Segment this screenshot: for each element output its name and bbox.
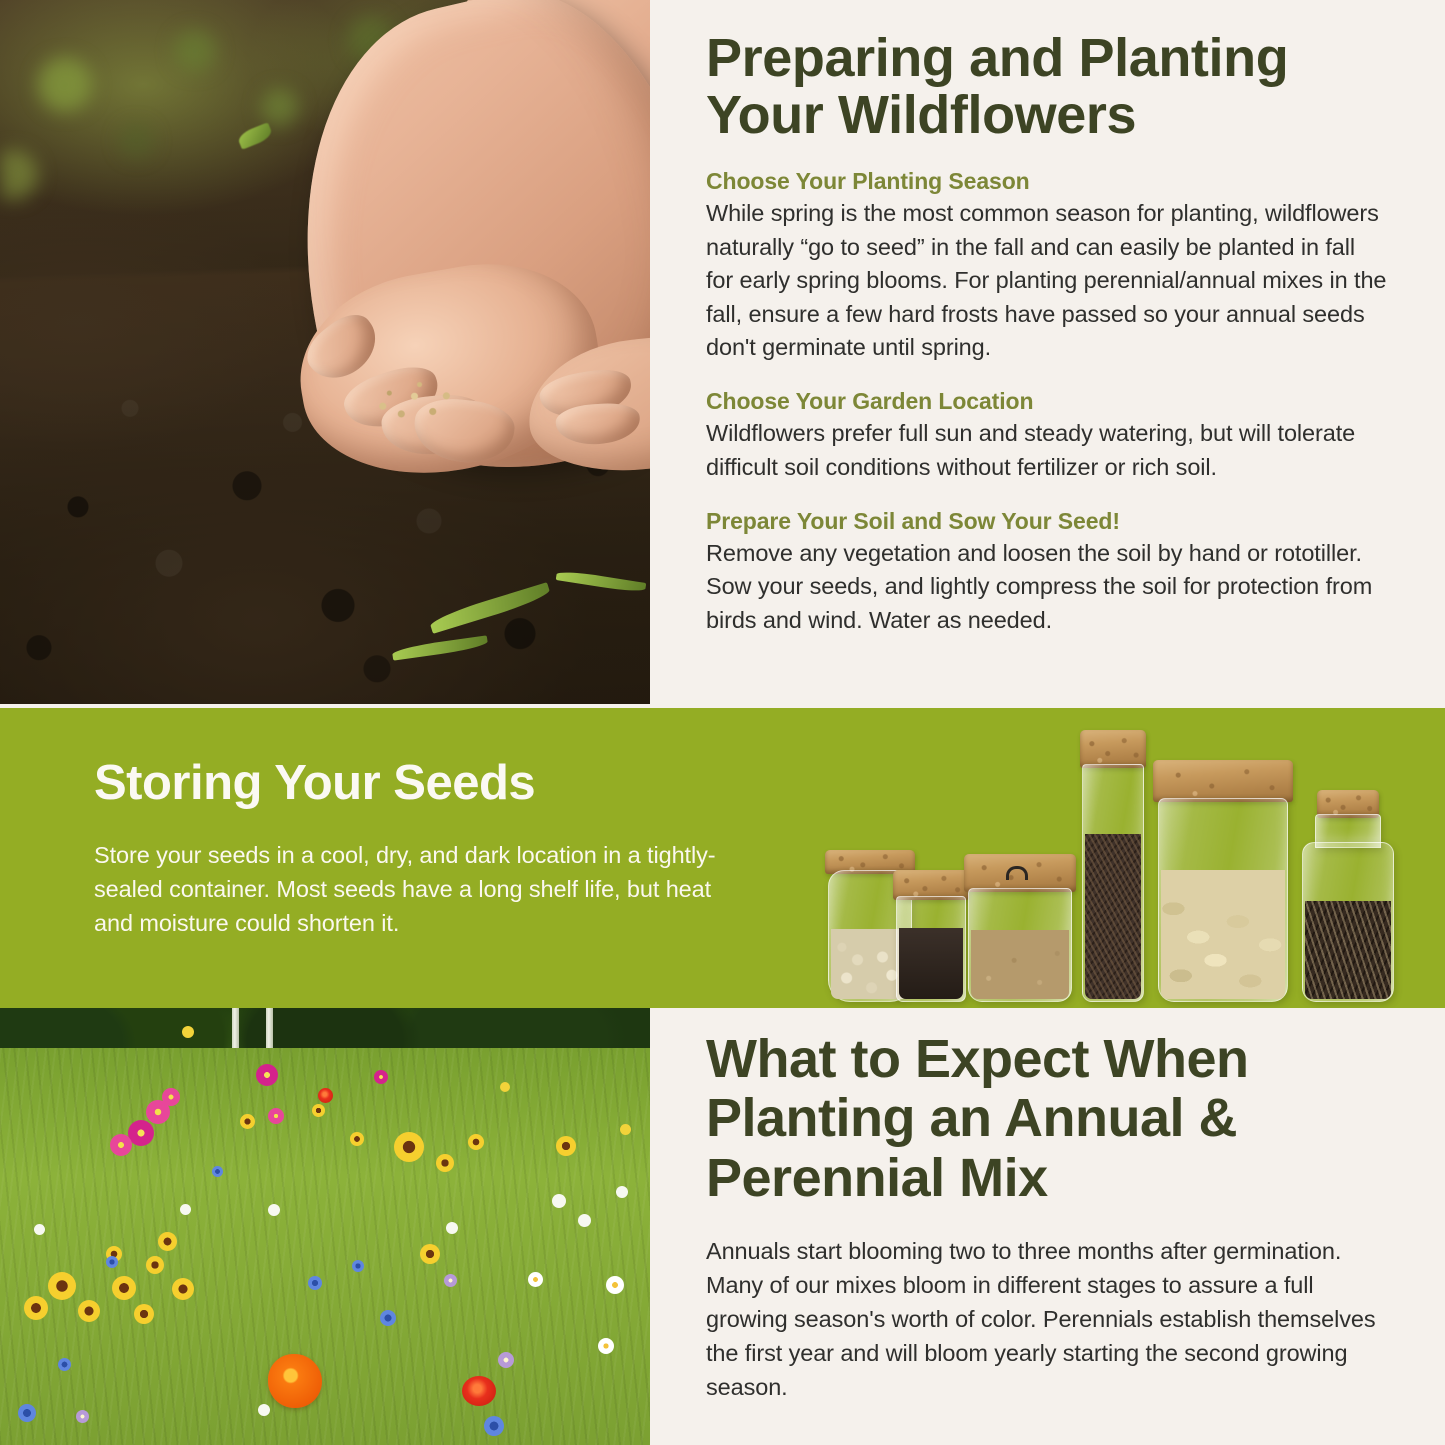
flower-coreopsis-yellow	[78, 1300, 100, 1322]
paragraph-garden-location: Wildflowers prefer full sun and steady w…	[706, 417, 1387, 484]
storing-text-block: Storing Your Seeds Store your seeds in a…	[94, 758, 734, 941]
flower-coreopsis-yellow	[172, 1278, 194, 1300]
flower-lavender	[444, 1274, 457, 1287]
flower-cornflower-blue	[106, 1256, 118, 1268]
glass-body	[1302, 842, 1394, 1002]
flower-cosmos-magenta	[128, 1120, 154, 1146]
flower-yellow-small	[500, 1082, 510, 1092]
glass-body	[896, 896, 966, 1002]
expect-paragraph: Annuals start blooming two to three mont…	[706, 1234, 1387, 1404]
flower-coreopsis-yellow	[468, 1134, 484, 1150]
seed-fill-sunflower	[1305, 901, 1391, 999]
jar-pumpkin-seeds	[1158, 760, 1288, 1002]
jar-sunflower-seeds	[1302, 790, 1394, 1002]
storing-title: Storing Your Seeds	[94, 758, 734, 809]
flower-lavender	[498, 1352, 514, 1368]
seed-fill-dark	[899, 928, 963, 999]
flower-coreopsis-yellow	[312, 1104, 325, 1117]
flower-coreopsis-yellow	[556, 1136, 576, 1156]
page-title: Preparing and Planting Your Wildflowers	[706, 30, 1387, 144]
flower-poppy-red	[462, 1376, 496, 1406]
flower-coreopsis-yellow	[48, 1272, 76, 1300]
section-storing-your-seeds: Storing Your Seeds Store your seeds in a…	[0, 708, 1445, 1008]
seed-fill-dark-flakes	[1085, 834, 1141, 999]
flower-cornflower-blue	[484, 1416, 504, 1436]
seed-fill-pumpkin	[1161, 870, 1285, 999]
jar-tall-tube	[1082, 730, 1144, 1002]
flower-white-daisy	[446, 1222, 458, 1234]
flower-coreopsis-yellow	[436, 1154, 454, 1172]
flower-coreopsis-yellow	[24, 1296, 48, 1320]
flower-poppy-orange	[268, 1354, 322, 1408]
subheading-garden-location: Choose Your Garden Location	[706, 388, 1387, 415]
cork-lid	[1080, 730, 1147, 768]
flower-cosmos-pink	[110, 1134, 132, 1156]
hand-sowing-seeds-photo	[0, 0, 650, 704]
flower-coreopsis-yellow	[158, 1232, 177, 1251]
flower-white-daisy	[258, 1404, 270, 1416]
paragraph-prepare-soil: Remove any vegetation and loosen the soi…	[706, 537, 1387, 637]
flower-coreopsis-yellow	[394, 1132, 424, 1162]
flower-cornflower-blue	[18, 1404, 36, 1422]
seed-fill-tan-grain	[971, 930, 1069, 999]
flower-coreopsis-yellow	[420, 1244, 440, 1264]
flower-yellow-small	[182, 1026, 194, 1038]
flower-poppy-red	[318, 1088, 333, 1103]
flower-white-daisy	[34, 1224, 45, 1235]
storing-paragraph: Store your seeds in a cool, dry, and dar…	[94, 839, 734, 940]
flower-cornflower-blue	[380, 1310, 396, 1326]
glass-body	[968, 888, 1072, 1002]
flower-white-daisy	[552, 1194, 566, 1208]
flower-white-daisy	[180, 1204, 191, 1215]
cork-lid	[1153, 760, 1293, 802]
flower-cosmos-pink	[162, 1088, 180, 1106]
flower-white-daisy	[606, 1276, 624, 1294]
flower-cornflower-blue	[308, 1276, 322, 1290]
jar-wire-clasp-icon	[1006, 866, 1028, 880]
flower-white-daisy	[598, 1338, 614, 1354]
flower-coreopsis-yellow	[350, 1132, 364, 1146]
flower-white-daisy	[578, 1214, 591, 1227]
jar-dark-seeds	[896, 870, 966, 1002]
flower-cosmos-pink	[268, 1108, 284, 1124]
paragraph-planting-season: While spring is the most common season f…	[706, 197, 1387, 364]
flower-cornflower-blue	[352, 1260, 364, 1272]
flower-white-daisy	[268, 1204, 280, 1216]
flower-coreopsis-yellow	[146, 1256, 164, 1274]
section-what-to-expect: What to Expect When Planting an Annual &…	[0, 1008, 1445, 1445]
glass-body	[1082, 764, 1144, 1002]
flower-cornflower-blue	[212, 1166, 223, 1177]
flower-cornflower-blue	[58, 1358, 71, 1371]
glass-body	[1158, 798, 1288, 1002]
section-preparing-and-planting: Preparing and Planting Your Wildflowers …	[0, 0, 1445, 708]
seed-storage-jars-photo	[820, 726, 1430, 1008]
flower-white-daisy	[616, 1186, 628, 1198]
subheading-prepare-soil: Prepare Your Soil and Sow Your Seed!	[706, 508, 1387, 535]
expect-text-column: What to Expect When Planting an Annual &…	[650, 1008, 1445, 1445]
flower-coreopsis-yellow	[112, 1276, 136, 1300]
wildflower-planting-guide-page: Preparing and Planting Your Wildflowers …	[0, 0, 1445, 1445]
flower-yellow-small	[620, 1124, 631, 1135]
flower-white-daisy	[528, 1272, 543, 1287]
wildflower-meadow-photo	[0, 1008, 650, 1445]
flower-lavender	[76, 1410, 89, 1423]
intro-text-column: Preparing and Planting Your Wildflowers …	[650, 0, 1445, 708]
subheading-planting-season: Choose Your Planting Season	[706, 168, 1387, 195]
flower-cosmos-magenta	[256, 1064, 278, 1086]
flower-coreopsis-yellow	[240, 1114, 255, 1129]
expect-title: What to Expect When Planting an Annual &…	[706, 1030, 1387, 1208]
birch-trunk	[266, 1008, 273, 1052]
meadow-grass	[0, 1048, 650, 1445]
flower-cosmos-magenta	[374, 1070, 388, 1084]
flower-coreopsis-yellow	[134, 1304, 154, 1324]
